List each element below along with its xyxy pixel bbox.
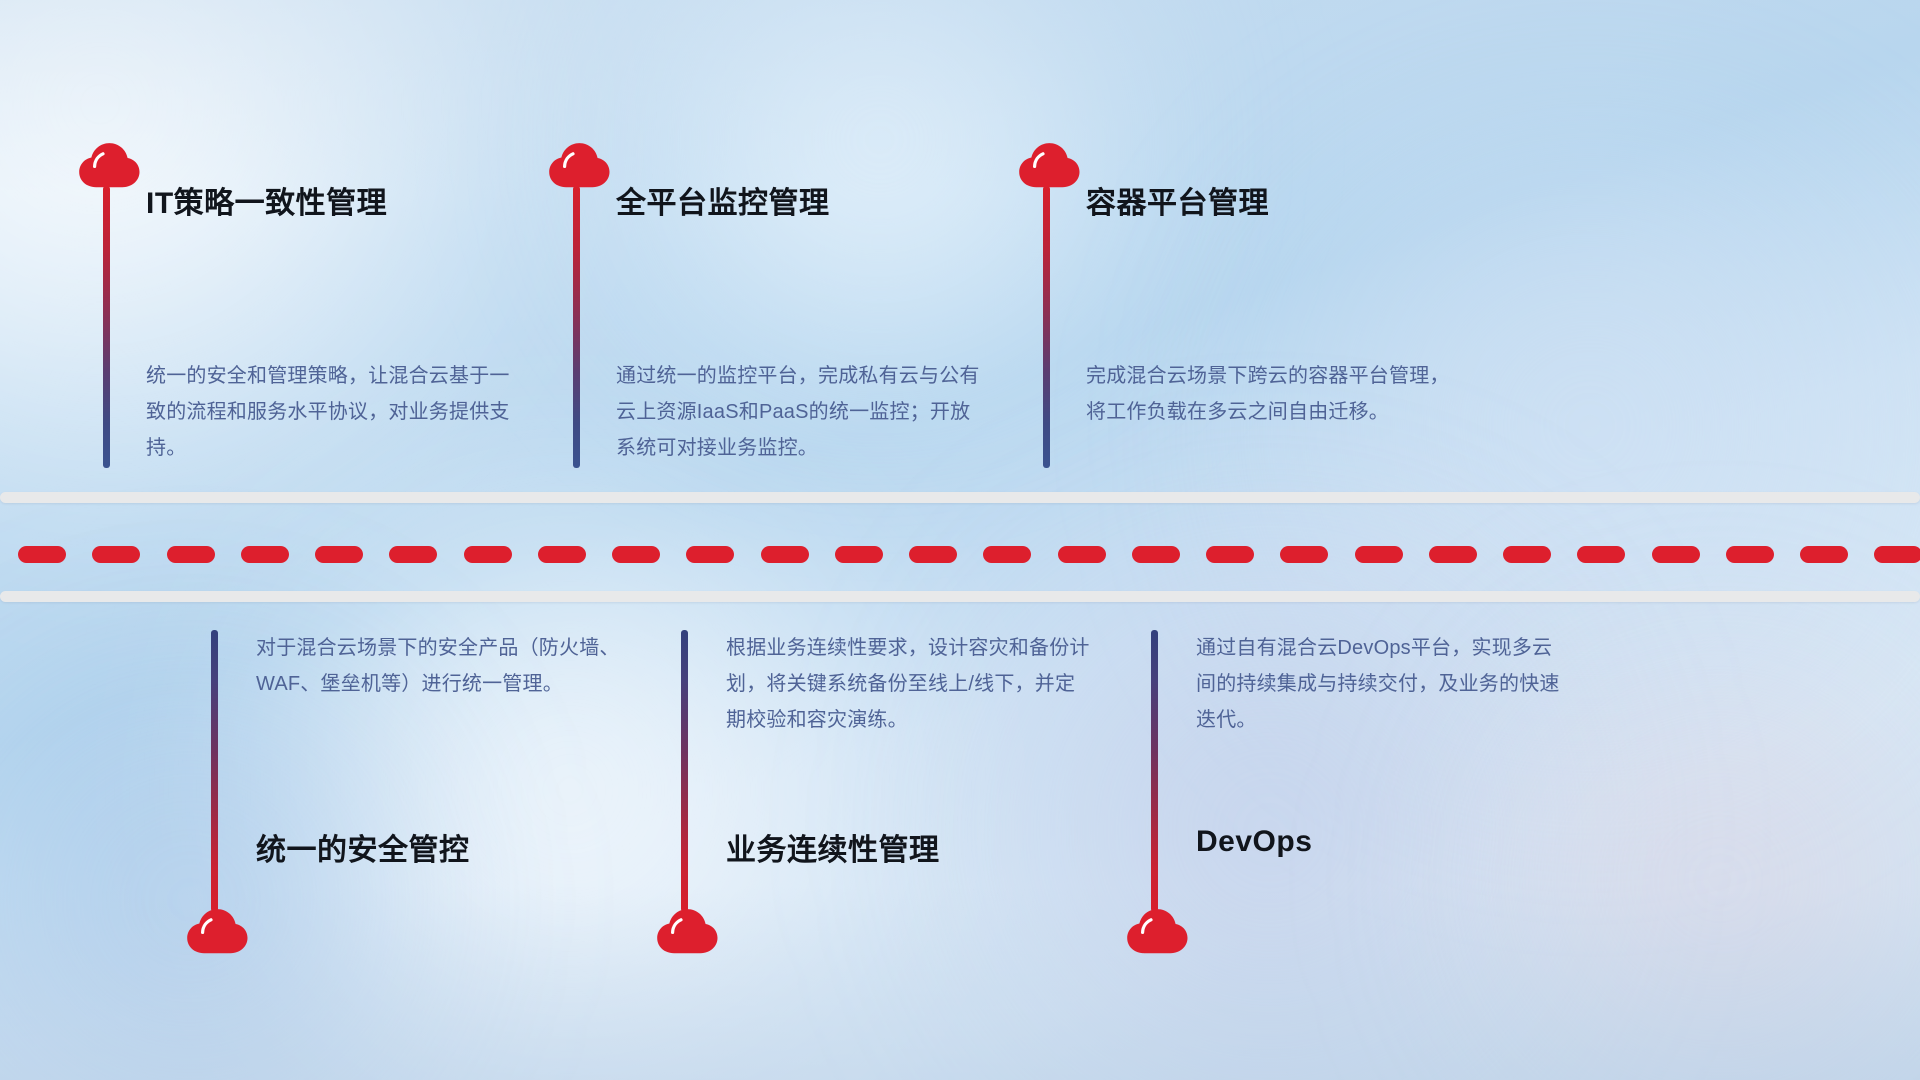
- item-description: 通过自有混合云DevOps平台，实现多云间的持续集成与持续交付，及业务的快速迭代…: [1196, 630, 1568, 738]
- cloud-icon: [1126, 908, 1188, 954]
- marker-pole: [1151, 630, 1158, 912]
- item-heading: DevOps: [1196, 825, 1312, 859]
- infographic-canvas: IT策略一致性管理统一的安全和管理策略，让混合云基于一致的流程和服务水平协议，对…: [0, 0, 1920, 1080]
- marker-devops[interactable]: DevOps通过自有混合云DevOps平台，实现多云间的持续集成与持续交付，及业…: [0, 0, 1920, 1080]
